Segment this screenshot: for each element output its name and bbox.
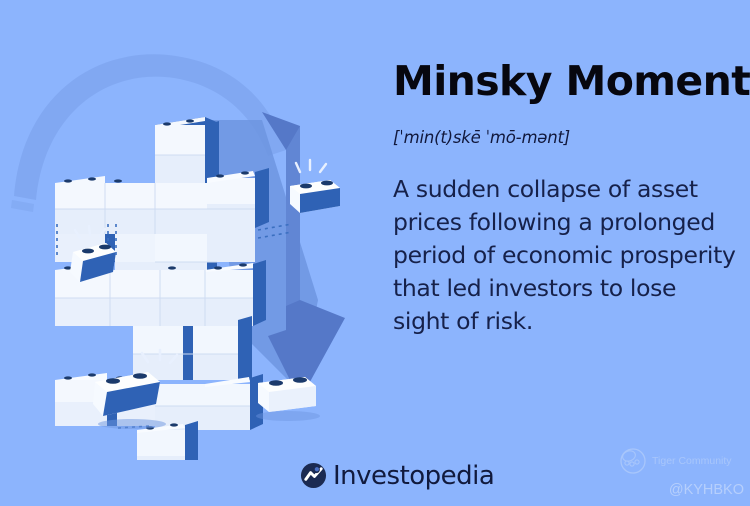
tiger-paw-icon xyxy=(618,446,648,476)
watermark-label: Tiger Community xyxy=(652,455,732,467)
watermark-handle: @KYHBKO xyxy=(618,476,746,498)
definition-card: Minsky Moment [ˈmin(t)skē ˈmō-mənt] A su… xyxy=(0,0,750,506)
investopedia-wordmark: Investopedia xyxy=(333,463,494,489)
flying-block-bottom-right xyxy=(256,377,320,421)
down-arrow-highlight xyxy=(286,126,300,306)
collapsing-block-tower-illustration xyxy=(0,0,390,460)
pronunciation-text: [ˈmin(t)skē ˈmō-mənt] xyxy=(393,104,738,147)
page-title: Minsky Moment xyxy=(393,58,738,104)
text-column: Minsky Moment [ˈmin(t)skē ˈmō-mənt] A su… xyxy=(393,58,738,338)
block-row-top xyxy=(155,117,219,183)
investopedia-logo: Investopedia xyxy=(300,462,494,489)
watermark: Tiger Community @KYHBKO xyxy=(618,446,746,498)
flying-block-right xyxy=(290,160,340,213)
definition-text: A sudden collapse of asset prices follow… xyxy=(393,147,738,338)
investopedia-circle-mark xyxy=(300,462,327,489)
arc-speckle xyxy=(11,200,34,212)
